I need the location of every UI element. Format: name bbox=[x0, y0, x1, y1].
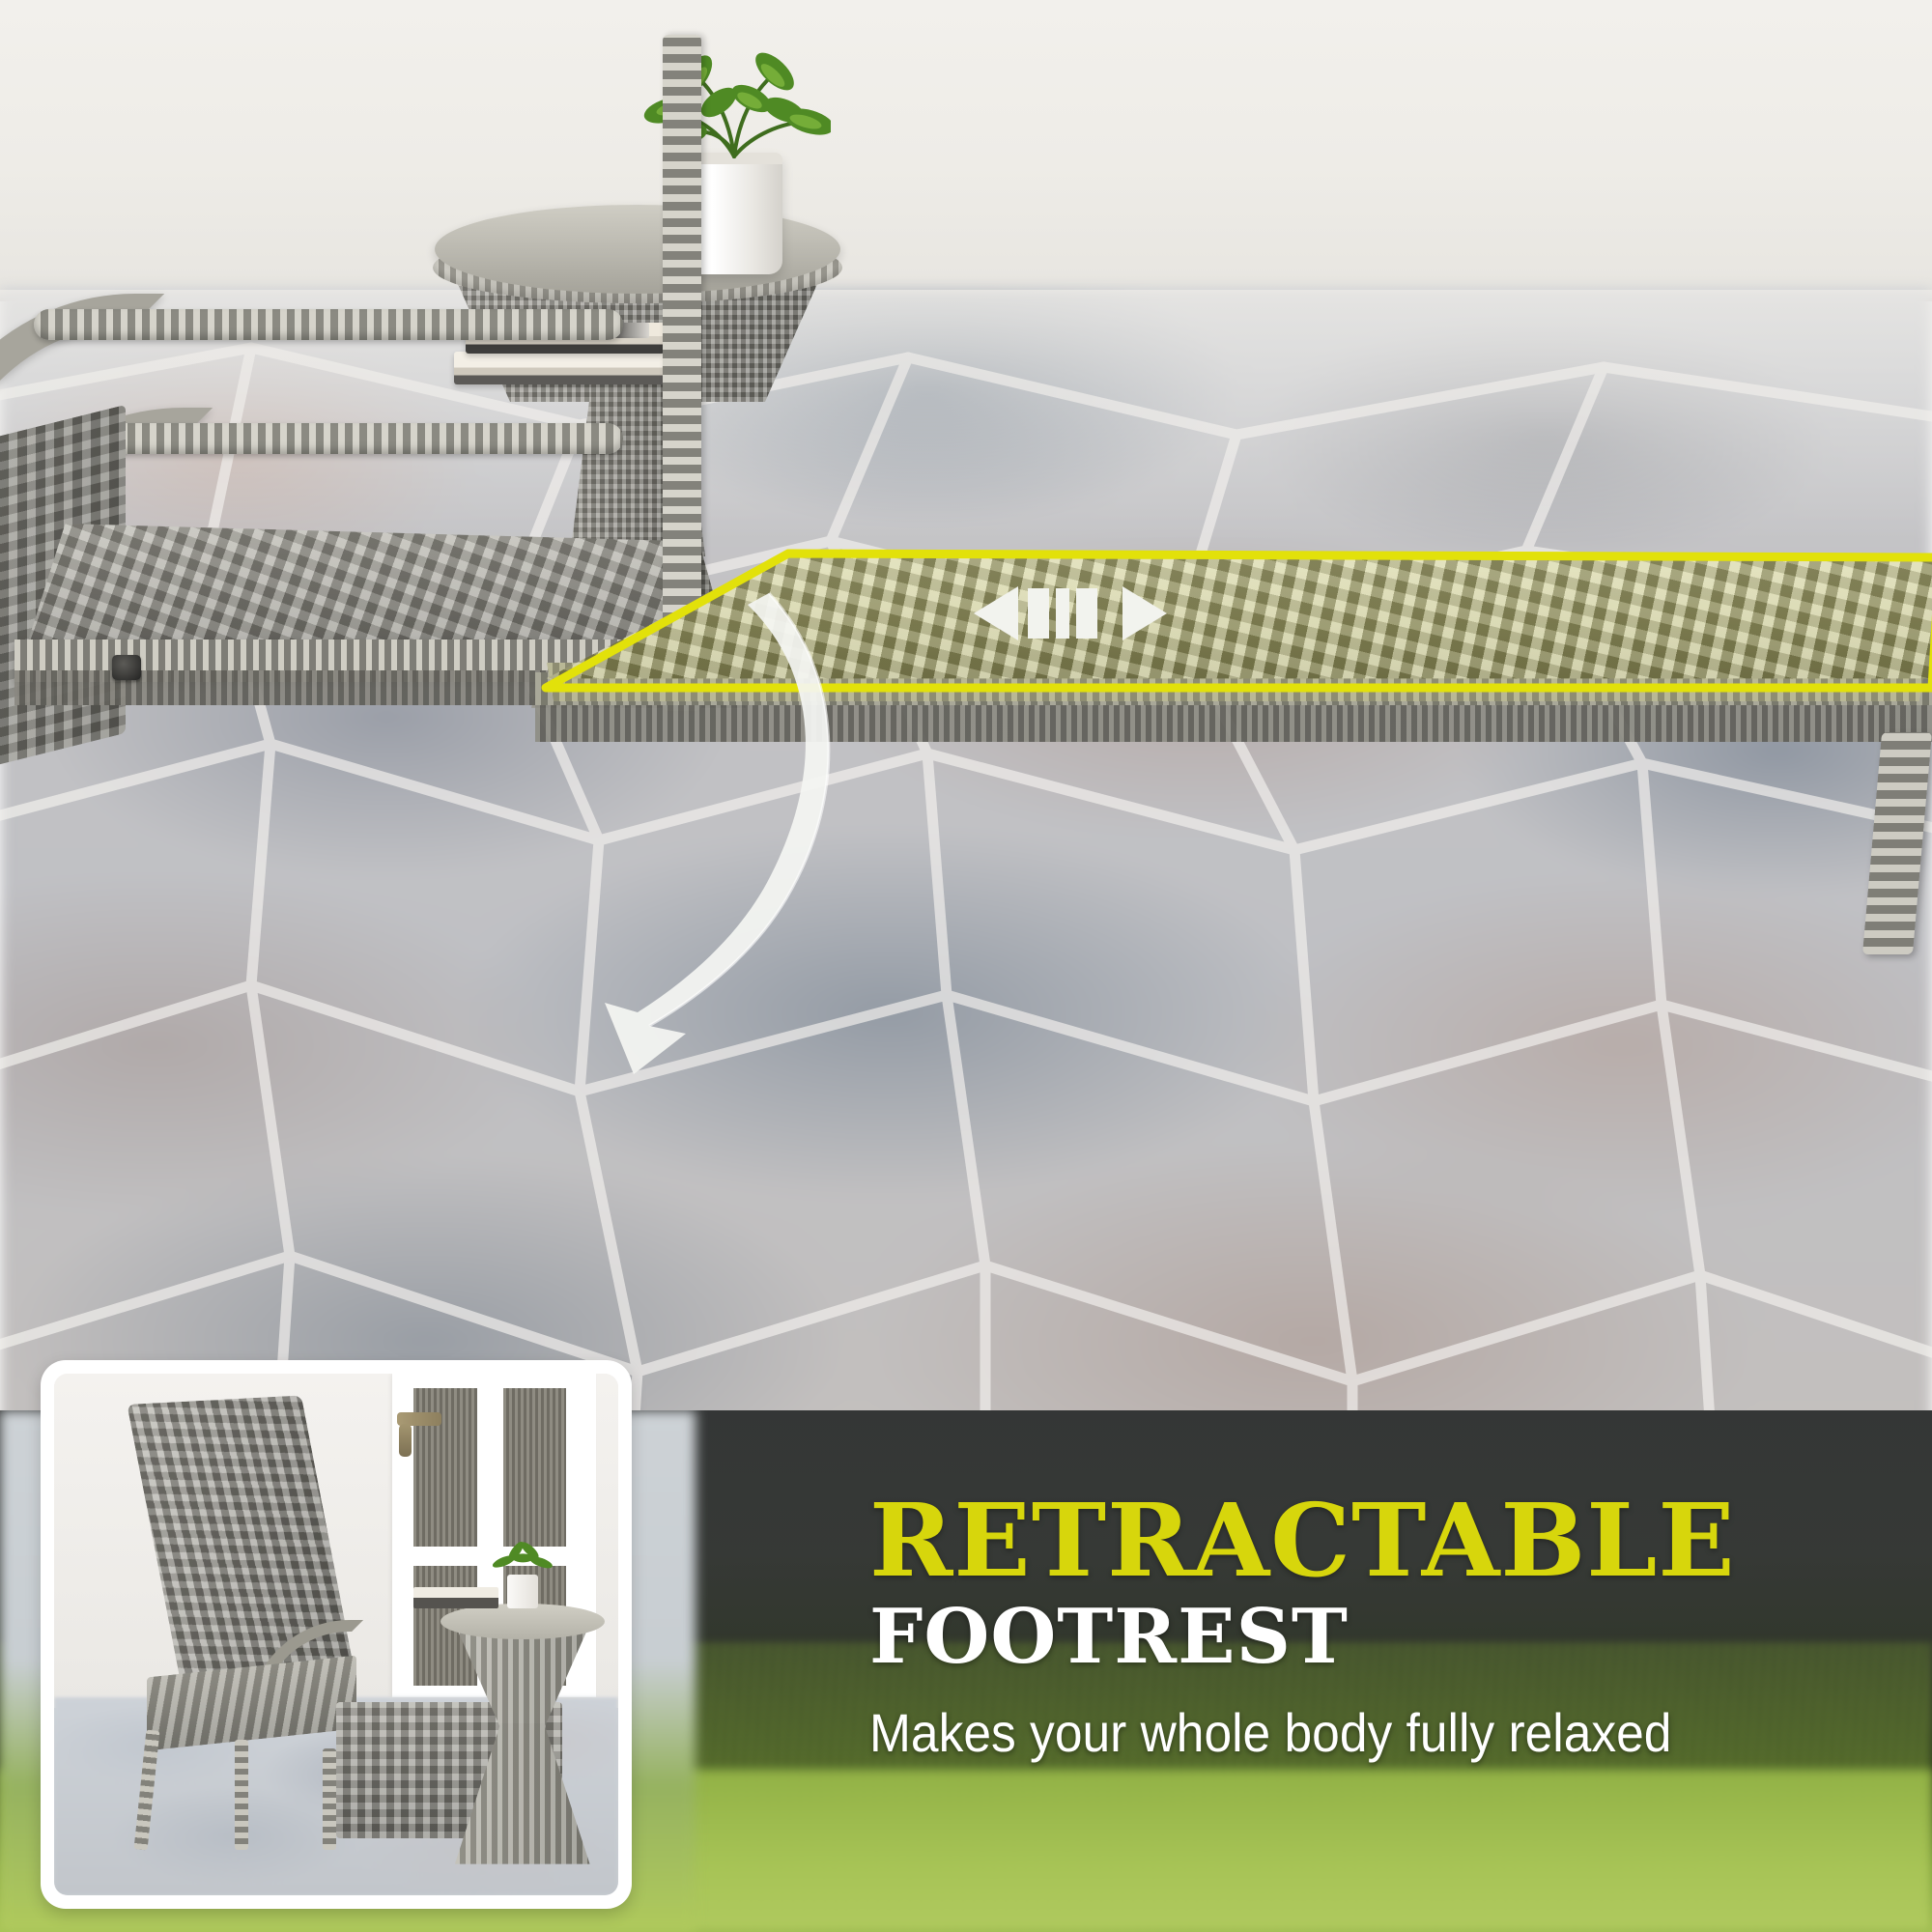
footrest-platform bbox=[529, 549, 1932, 684]
inset-books bbox=[413, 1587, 498, 1608]
retractable-footrest[interactable] bbox=[529, 549, 1932, 896]
inset-table-base bbox=[455, 1723, 590, 1864]
tagline: Makes your whole body fully relaxed bbox=[869, 1700, 1811, 1765]
exterior-wall bbox=[0, 0, 1932, 301]
inset-side-table bbox=[449, 1604, 596, 1864]
inset-table-upper-cone bbox=[455, 1624, 590, 1728]
banner-copy: RETRACTABLE FOOTREST Makes your whole bo… bbox=[869, 1492, 1893, 1765]
inset-chair-leg bbox=[323, 1748, 336, 1850]
inset-chair-leg bbox=[133, 1730, 159, 1850]
inset-plant-foliage bbox=[490, 1541, 554, 1578]
inset-photo-card bbox=[41, 1360, 632, 1909]
footrest-skirt bbox=[535, 699, 1932, 742]
headline: RETRACTABLE bbox=[869, 1492, 1893, 1589]
inset-plant-pot bbox=[507, 1575, 538, 1608]
inset-table-top bbox=[440, 1604, 605, 1640]
inset-chair-leg bbox=[235, 1740, 248, 1850]
chair-armrest-near bbox=[77, 423, 623, 454]
recline-adjuster-knob[interactable] bbox=[112, 655, 141, 680]
inset-photo bbox=[54, 1374, 618, 1895]
chair-armrest-far bbox=[34, 309, 623, 340]
inset-door-pane bbox=[498, 1383, 572, 1551]
left-right-drag-arrows-icon bbox=[974, 580, 1167, 647]
product-image-canvas: RETRACTABLE FOOTREST Makes your whole bo… bbox=[0, 0, 1932, 1932]
subheadline: FOOTREST bbox=[869, 1595, 1893, 1679]
inset-potted-plant bbox=[490, 1541, 554, 1608]
